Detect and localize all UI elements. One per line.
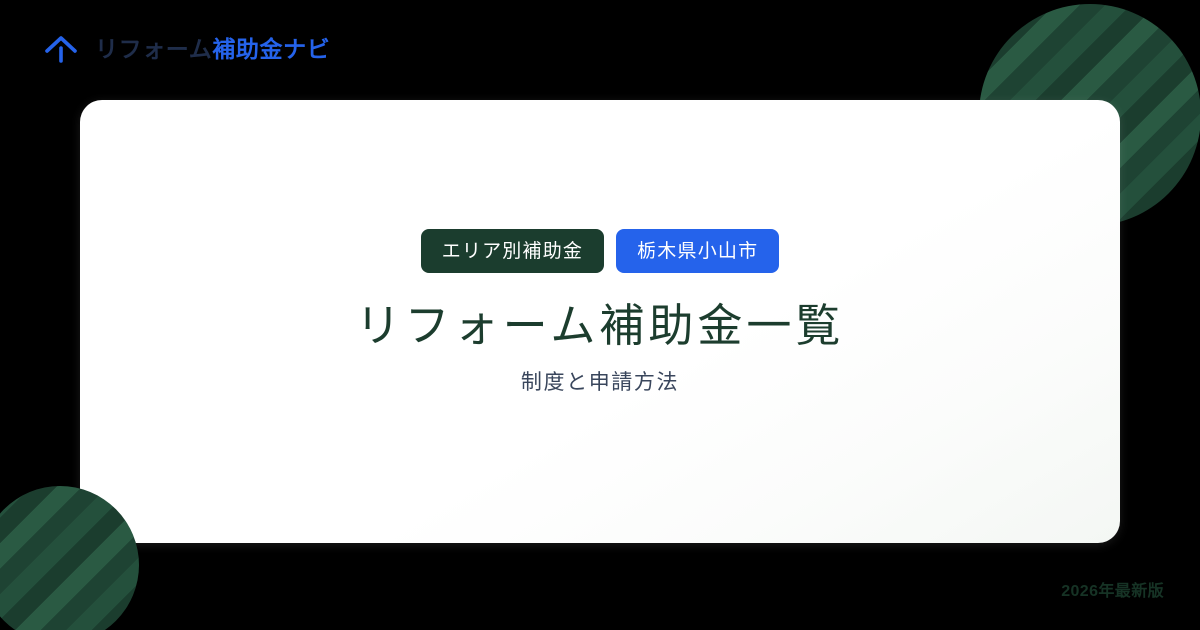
brand-name-primary: リフォーム xyxy=(95,38,212,61)
page-root: リフォーム補助金ナビ エリア別補助金 栃木県小山市 リフォーム補助金一覧 制度と… xyxy=(0,0,1200,630)
badge-category[interactable]: エリア別補助金 xyxy=(421,229,604,273)
edition-note: 2026年最新版 xyxy=(1061,584,1164,600)
page-subtitle: 制度と申請方法 xyxy=(521,370,679,395)
brand-logo[interactable]: リフォーム補助金ナビ xyxy=(40,26,330,72)
brand-name-accent: 補助金ナビ xyxy=(212,38,330,61)
page-title: リフォーム補助金一覧 xyxy=(356,300,845,352)
badge-row: エリア別補助金 栃木県小山市 xyxy=(421,229,780,273)
brand-name: リフォーム補助金ナビ xyxy=(95,38,330,61)
hero-card: エリア別補助金 栃木県小山市 リフォーム補助金一覧 制度と申請方法 xyxy=(80,100,1120,543)
arrow-up-icon xyxy=(40,28,82,70)
badge-region[interactable]: 栃木県小山市 xyxy=(616,229,779,273)
